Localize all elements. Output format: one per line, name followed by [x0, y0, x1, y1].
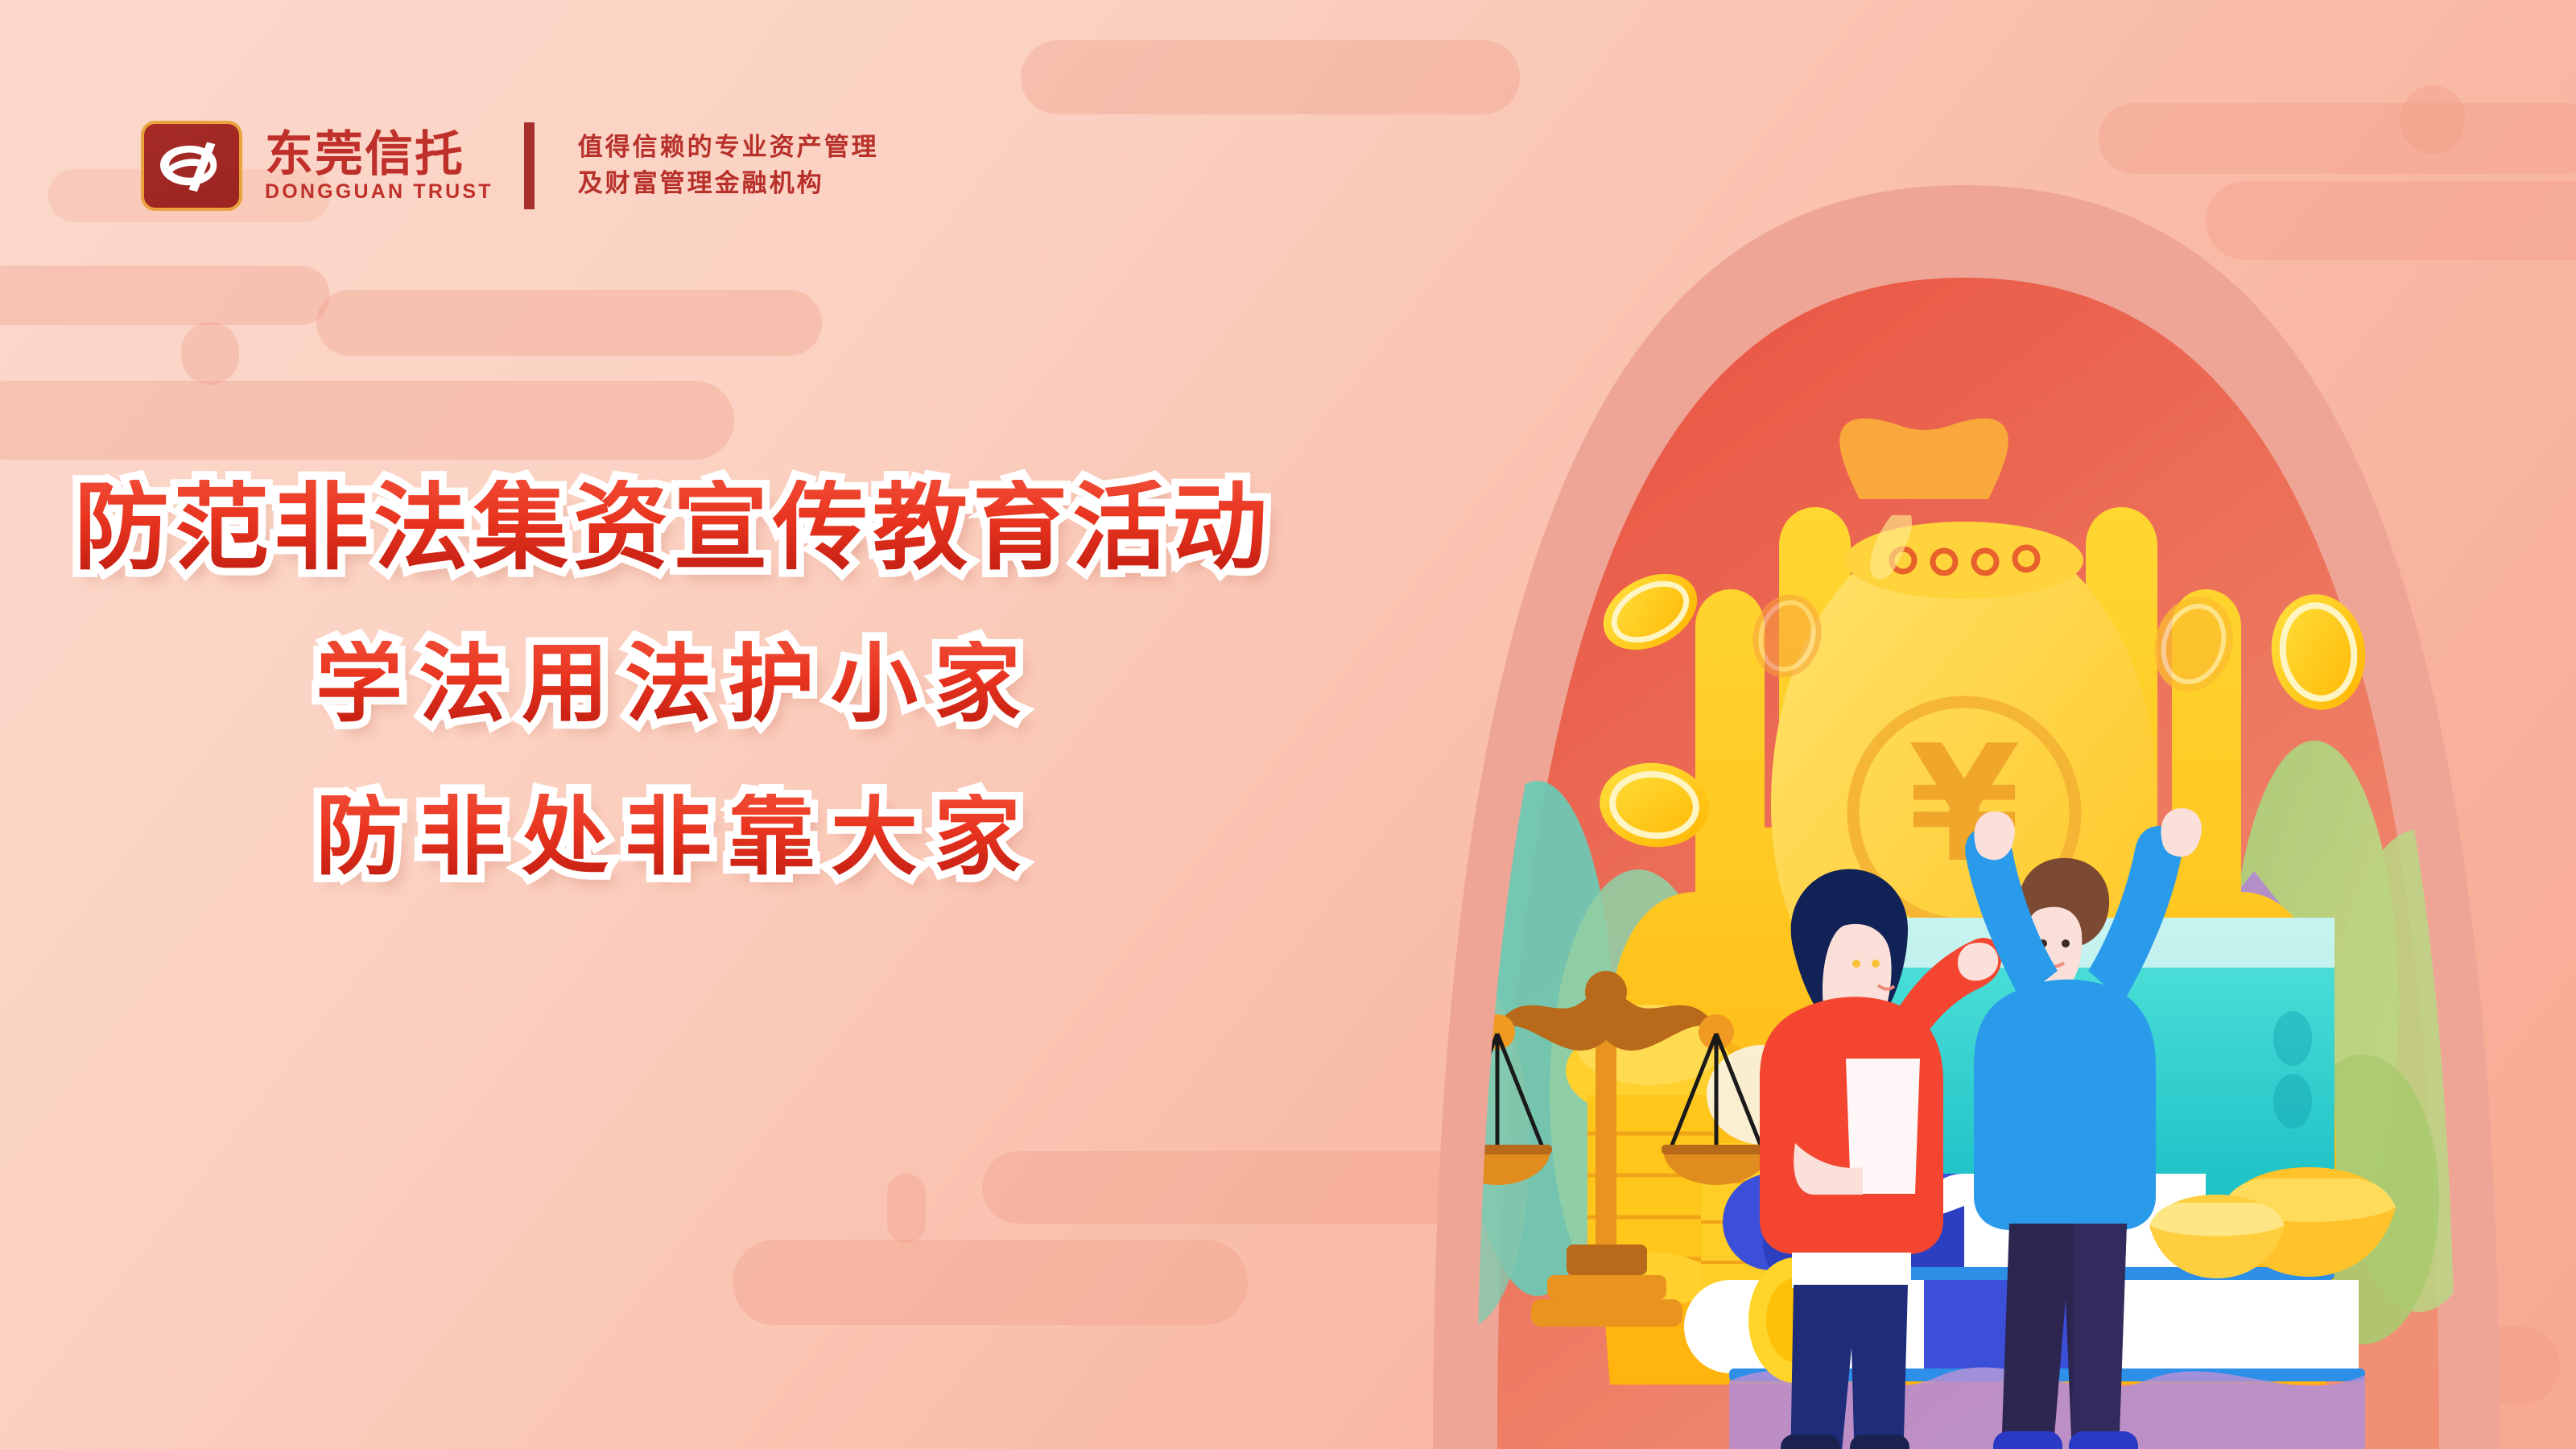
header-divider — [524, 122, 535, 209]
slogan-line-2: 及财富管理金融机构 — [578, 171, 879, 196]
bg-dot-3 — [887, 1174, 926, 1243]
headline-line-3: 防非处非靠大家 防非处非靠大家 — [316, 794, 1368, 881]
brand-header: 东莞信托 DONGGUAN TRUST 值得信赖的专业资产管理 及财富管理金融机… — [141, 121, 879, 211]
bg-dot-1 — [181, 322, 239, 385]
brand-name-cn: 东莞信托 — [265, 130, 493, 179]
brand-wordmark: 东莞信托 DONGGUAN TRUST — [265, 130, 493, 202]
promotional-banner: 东莞信托 DONGGUAN TRUST 值得信赖的专业资产管理 及财富管理金融机… — [0, 0, 2576, 1449]
headline-line-3-fill: 防非处非靠大家 — [316, 794, 1368, 881]
bg-pill-1 — [0, 266, 330, 325]
headline-line-1-fill: 防范非法集资宣传教育活动 — [74, 480, 1368, 575]
brand-logo-mark — [141, 121, 242, 211]
headline-line-2: 学法用法护小家 学法用法护小家 — [316, 641, 1368, 728]
headline-line-1: 防范非法集资宣传教育活动 防范非法集资宣传教育活动 — [74, 480, 1368, 575]
bg-pill-9 — [982, 1151, 1481, 1224]
bg-pill-8 — [733, 1240, 1248, 1325]
headline-line-2-fill: 学法用法护小家 — [316, 641, 1368, 728]
brand-slogan: 值得信赖的专业资产管理 及财富管理金融机构 — [578, 135, 879, 196]
finance-illustration: ¥ — [1409, 0, 2576, 1449]
brand-name-en: DONGGUAN TRUST — [265, 182, 493, 202]
headline-group: 防范非法集资宣传教育活动 防范非法集资宣传教育活动 学法用法护小家 学法用法护小… — [0, 480, 1368, 881]
bg-pill-6 — [316, 290, 822, 356]
bg-pill-5 — [0, 381, 734, 460]
slogan-line-1: 值得信赖的专业资产管理 — [578, 135, 879, 160]
